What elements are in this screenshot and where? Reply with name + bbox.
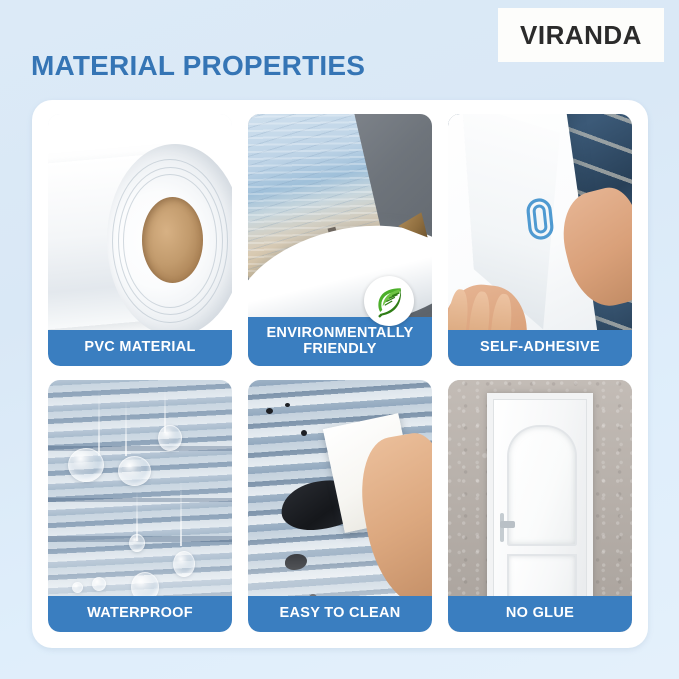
feature-tile-waterproof[interactable]: WATERPROOF <box>48 380 232 632</box>
leaf-icon <box>364 276 414 326</box>
feature-tile-pvc-material[interactable]: PVC MATERIAL <box>48 114 232 366</box>
features-grid: PVC MATERIAL <box>48 114 632 632</box>
brand-badge: VIRANDA <box>498 8 664 62</box>
feature-tile-no-glue[interactable]: NO GLUE <box>448 380 632 632</box>
pvc-roll-image <box>48 114 232 366</box>
feature-tile-environmentally-friendly[interactable]: ENVIRONMENTALLY FRIENDLY <box>248 114 432 366</box>
infographic-page: VIRANDA MATERIAL PROPERTIES PVC MATERIAL <box>0 0 679 679</box>
paperclip-icon <box>523 196 557 243</box>
self-adhesive-image <box>448 114 632 366</box>
feature-label-environmentally-friendly: ENVIRONMENTALLY FRIENDLY <box>248 317 432 366</box>
no-glue-door-image <box>448 380 632 632</box>
feature-label-self-adhesive: SELF-ADHESIVE <box>448 330 632 366</box>
feature-label-waterproof: WATERPROOF <box>48 596 232 632</box>
brand-name: VIRANDA <box>520 20 642 51</box>
feature-tile-self-adhesive[interactable]: SELF-ADHESIVE <box>448 114 632 366</box>
features-panel: PVC MATERIAL <box>32 100 648 648</box>
feature-tile-easy-to-clean[interactable]: EASY TO CLEAN <box>248 380 432 632</box>
feature-label-pvc-material: PVC MATERIAL <box>48 330 232 366</box>
easy-to-clean-image <box>248 380 432 632</box>
feature-label-no-glue: NO GLUE <box>448 596 632 632</box>
page-title: MATERIAL PROPERTIES <box>31 50 365 82</box>
cardboard-core <box>142 197 203 283</box>
feature-label-easy-to-clean: EASY TO CLEAN <box>248 596 432 632</box>
waterproof-image <box>48 380 232 632</box>
